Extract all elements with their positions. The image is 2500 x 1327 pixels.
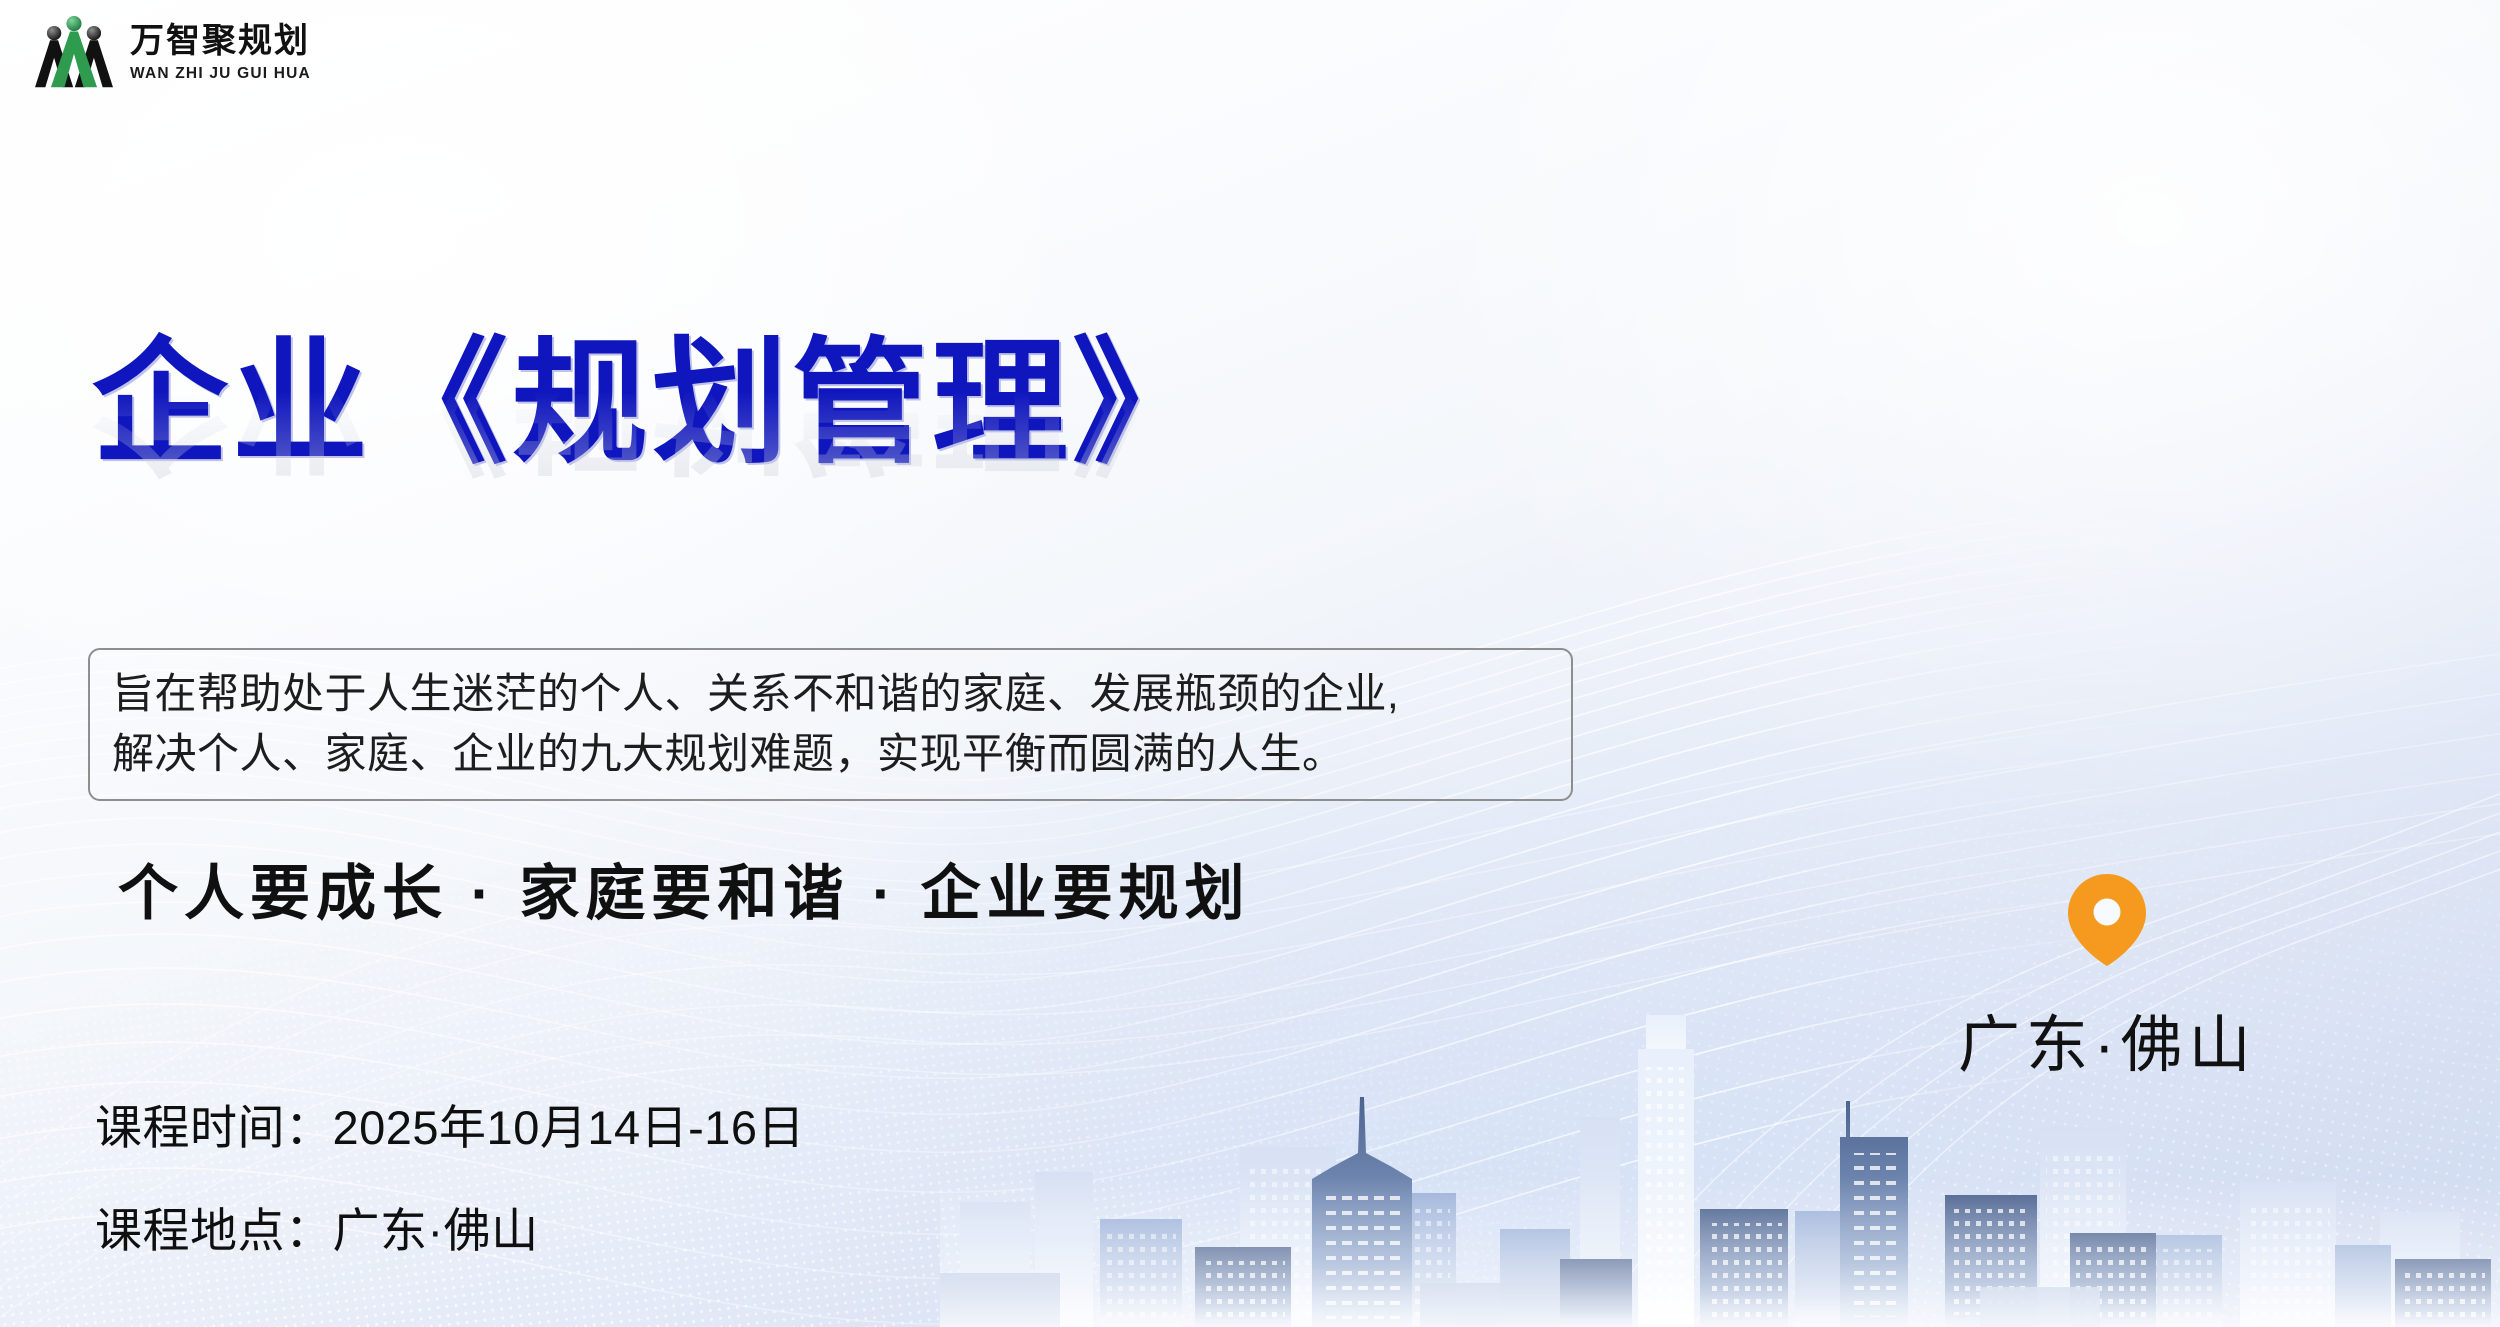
location-block: 广东·佛山	[1958, 872, 2257, 1084]
location-label: 广东·佛山	[1958, 994, 2257, 1084]
brand-name-block: 万智聚规划 WAN ZHI JU GUI HUA	[130, 25, 311, 82]
brand-logo: 万智聚规划 WAN ZHI JU GUI HUA	[34, 14, 311, 92]
slogan-text: 个人要成长 · 家庭要和谐 · 企业要规划	[118, 845, 1251, 932]
brand-name-en: WAN ZHI JU GUI HUA	[130, 66, 311, 82]
description-line-1: 旨在帮助处于人生迷茫的个人、关系不和谐的家庭、发展瓶颈的企业,	[112, 664, 1551, 724]
course-time-line: 课程时间：2025年10月14日-16日	[95, 1089, 805, 1158]
promo-banner: 万智聚规划 WAN ZHI JU GUI HUA 企业《规划管理》 企业《规划管…	[0, 0, 2500, 1327]
brand-name-cn: 万智聚规划	[130, 25, 311, 59]
course-place-line: 课程地点：广东·佛山	[95, 1192, 805, 1261]
course-info-block: 课程时间：2025年10月14日-16日 课程地点：广东·佛山	[95, 1089, 805, 1261]
description-line-2: 解决个人、家庭、企业的九大规划难题，实现平衡而圆满的人生。	[112, 724, 1551, 784]
three-people-mountain-logo-icon	[34, 14, 114, 92]
page-title-reflection: 企业《规划管理》	[92, 334, 1212, 481]
description-box: 旨在帮助处于人生迷茫的个人、关系不和谐的家庭、发展瓶颈的企业, 解决个人、家庭、…	[88, 648, 1573, 801]
dot-halftone-right	[1205, 435, 2500, 1327]
map-pin-icon	[2064, 872, 2150, 968]
headline-block: 企业《规划管理》 企业《规划管理》	[92, 330, 1212, 628]
